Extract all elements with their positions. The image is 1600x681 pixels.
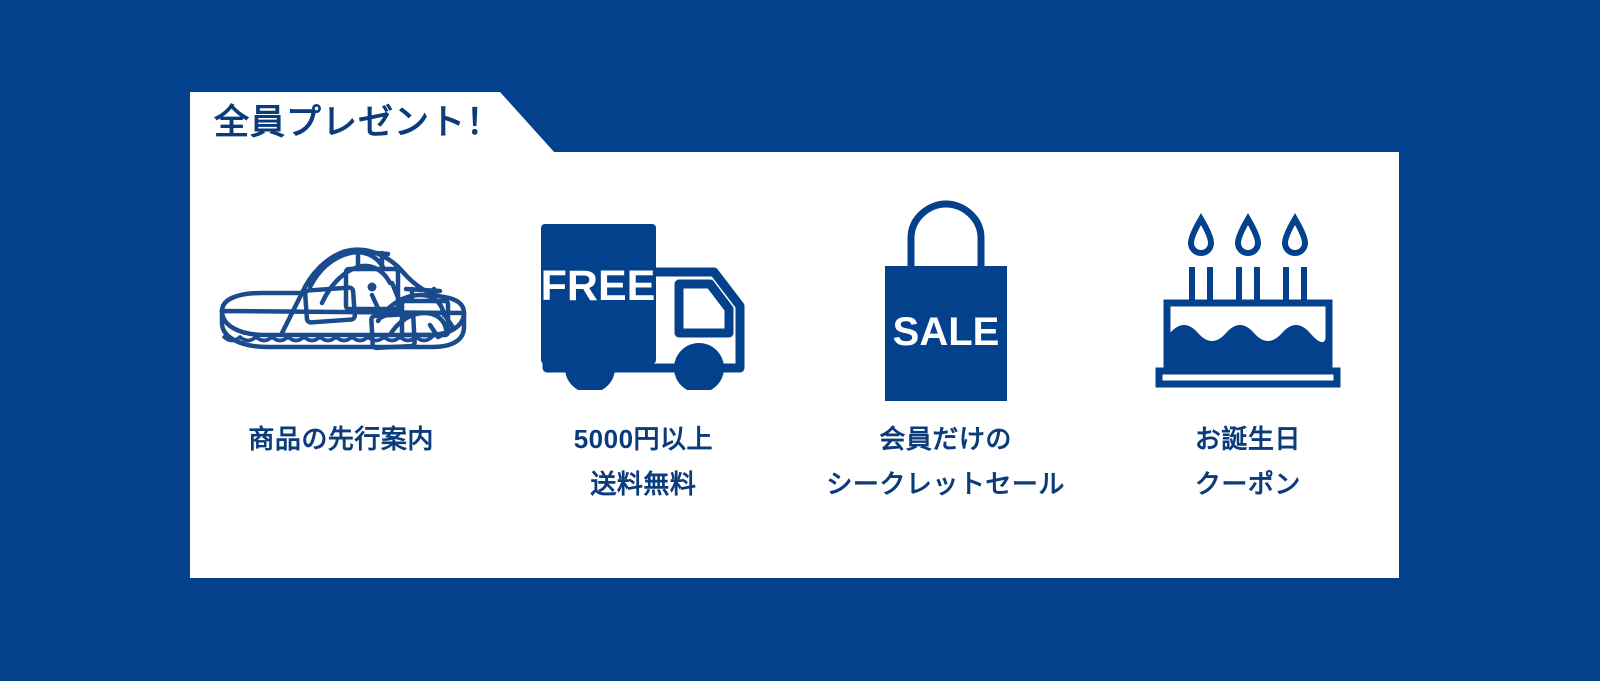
benefit-caption-line2: 送料無料 bbox=[574, 462, 713, 507]
truck-icon-wrap: FREE bbox=[533, 192, 753, 407]
benefit-caption: 会員だけの シークレットセール bbox=[826, 417, 1065, 507]
benefit-caption-line1: 5000円以上 bbox=[574, 424, 713, 454]
candle-stick bbox=[1286, 267, 1304, 303]
cake-plate bbox=[1159, 371, 1337, 384]
benefit-caption-line1: 会員だけの bbox=[879, 424, 1012, 454]
membership-benefits-banner: 全員プレゼント！ bbox=[0, 0, 1600, 681]
delivery-truck-icon: FREE bbox=[533, 210, 753, 390]
candle-flame bbox=[1238, 219, 1258, 253]
benefit-caption: お誕生日 クーポン bbox=[1195, 417, 1301, 507]
benefit-item: FREE 5000円以上 送料無料 bbox=[503, 192, 783, 507]
sandal-icon bbox=[206, 225, 476, 375]
benefit-caption: 5000円以上 送料無料 bbox=[574, 417, 713, 507]
candle-stick bbox=[1239, 267, 1257, 303]
benefit-item: 商品の先行案内 bbox=[201, 192, 481, 462]
benefit-caption: 商品の先行案内 bbox=[248, 417, 434, 462]
candle-flame bbox=[1191, 219, 1211, 253]
bag-sale-text: SALE bbox=[892, 310, 999, 354]
ribbon-tab: 全員プレゼント！ bbox=[190, 92, 555, 153]
cake-icon-wrap bbox=[1153, 192, 1343, 407]
benefits-list: 商品の先行案内 FREE bbox=[190, 152, 1399, 578]
cake-frosting bbox=[1170, 325, 1326, 366]
candle-stick bbox=[1192, 267, 1210, 303]
benefit-caption-line1: 商品の先行案内 bbox=[248, 424, 434, 454]
benefit-caption-line1: お誕生日 bbox=[1195, 424, 1301, 454]
benefit-item: お誕生日 クーポン bbox=[1108, 192, 1388, 507]
ribbon-label: 全員プレゼント！ bbox=[214, 95, 502, 151]
bag-icon-wrap: SALE bbox=[861, 192, 1031, 407]
benefit-caption-line2: シークレットセール bbox=[826, 462, 1065, 507]
truck-free-text: FREE bbox=[541, 262, 656, 310]
sandal-icon-wrap bbox=[206, 192, 476, 407]
truck-front-wheel bbox=[674, 343, 724, 390]
birthday-cake-icon bbox=[1153, 207, 1343, 392]
benefit-item: SALE 会員だけの シークレットセール bbox=[806, 192, 1086, 507]
bag-handle bbox=[911, 204, 981, 270]
candle-flame bbox=[1285, 219, 1305, 253]
shopping-bag-icon: SALE bbox=[861, 192, 1031, 407]
benefit-caption-line2: クーポン bbox=[1195, 462, 1301, 507]
